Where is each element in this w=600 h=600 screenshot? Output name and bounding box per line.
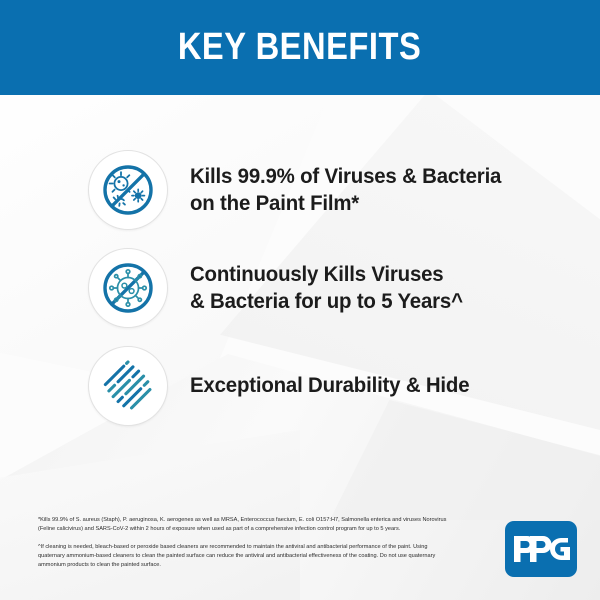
no-germs-icon: [88, 150, 168, 230]
benefit-item: Continuously Kills Viruses & Bacteria fo…: [0, 248, 600, 328]
benefit-label: Continuously Kills Viruses & Bacteria fo…: [190, 261, 463, 315]
benefit-item: Kills 99.9% of Viruses & Bacteria on the…: [0, 150, 600, 230]
benefits-list: Kills 99.9% of Viruses & Bacteria on the…: [0, 150, 600, 444]
footnote-caret: ^If cleaning is needed, bleach-based or …: [38, 543, 450, 570]
footnotes: *Kills 99.9% of S. aureus (Staph), P. ae…: [38, 516, 450, 579]
header-banner: KEY BENEFITS: [0, 0, 600, 95]
durability-hatch-icon: [88, 346, 168, 426]
benefit-label: Exceptional Durability & Hide: [190, 372, 469, 399]
no-virus-icon: [88, 248, 168, 328]
benefit-item: Exceptional Durability & Hide: [0, 346, 600, 426]
page-title: KEY BENEFITS: [178, 26, 421, 69]
footnote-asterisk: *Kills 99.9% of S. aureus (Staph), P. ae…: [38, 516, 450, 534]
ppg-logo: [505, 521, 577, 577]
key-benefits-panel: KEY BENEFITS: [0, 0, 600, 600]
benefit-label: Kills 99.9% of Viruses & Bacteria on the…: [190, 163, 501, 217]
